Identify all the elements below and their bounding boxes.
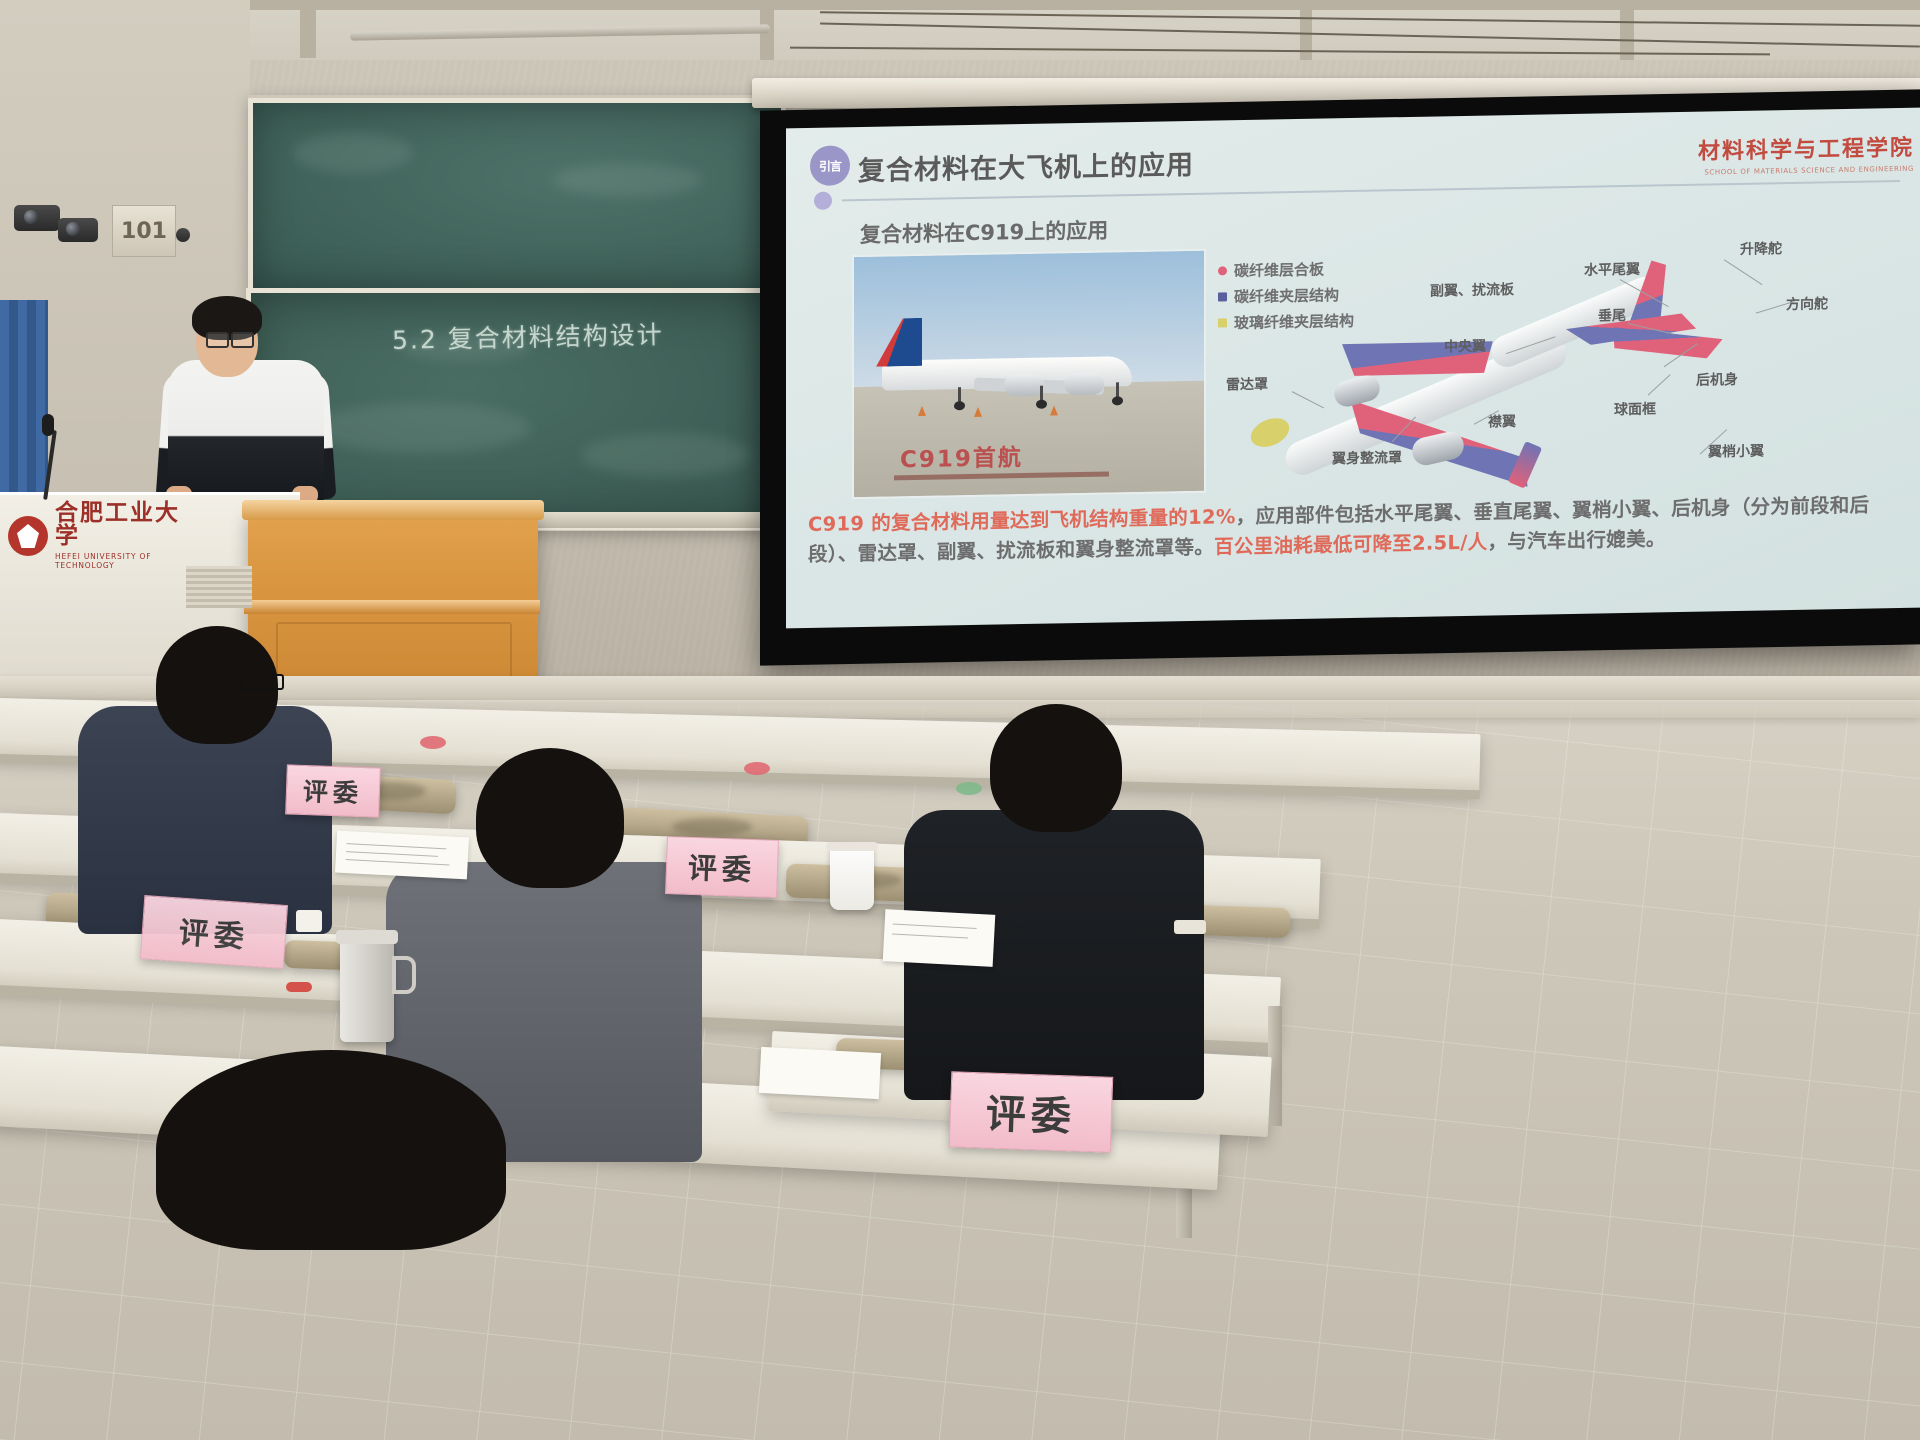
diagram-label-fairing: 翼身整流罩	[1332, 447, 1402, 468]
engine-nacelle	[1332, 372, 1383, 409]
name-tent: 评委	[285, 764, 381, 817]
desk-item	[1174, 920, 1206, 934]
marker-pen	[286, 982, 312, 992]
cup-lid	[826, 842, 878, 851]
sensor-lens-icon	[24, 210, 38, 224]
paper-sheet	[759, 1047, 881, 1099]
room-number-text: 101	[121, 219, 167, 244]
platform-step	[0, 676, 1920, 702]
name-tent: 评委	[140, 895, 288, 969]
diagram-label-v-tail: 垂尾	[1598, 305, 1626, 326]
radome-part	[1247, 413, 1294, 453]
diagram-label-winglet: 翼梢小翼	[1708, 440, 1764, 461]
paper-sheet	[883, 909, 996, 967]
paragraph-highlight-1: C919 的复合材料用量达到飞机结构重量的12%	[808, 505, 1236, 536]
university-name-cn: 合肥工业大学	[55, 502, 193, 548]
presenter-glasses-right	[231, 332, 254, 348]
university-name-en: HEFEI UNIVERSITY OF TECHNOLOGY	[55, 552, 193, 570]
thermos-lid	[336, 930, 398, 944]
audience-glasses	[240, 674, 284, 690]
ceiling-beam	[1300, 0, 1312, 62]
presentation-slide: 引言 复合材料在大飞机上的应用 材料科学与工程学院 SCHOOL OF MATE…	[786, 108, 1920, 629]
desk-marker-dot	[420, 736, 446, 749]
thermos-handle	[392, 956, 416, 994]
name-tent-label: 评委	[178, 908, 251, 957]
slide-brand: 材料科学与工程学院 SCHOOL OF MATERIALS SCIENCE AN…	[1698, 130, 1914, 177]
c919-photo: C919首航	[852, 249, 1206, 499]
podium-lip	[244, 600, 540, 614]
thermos-bottle	[340, 938, 394, 1042]
slide-bullet-dot	[814, 192, 832, 210]
paragraph-highlight-2: 百公里油耗最低可降至2.5L/人	[1214, 530, 1487, 558]
name-tent-label: 评委	[985, 1081, 1077, 1142]
paper-sheet	[335, 831, 469, 880]
diagram-label-bulkhead: 球面框	[1614, 398, 1656, 419]
name-tent-label: 评委	[687, 845, 756, 889]
slide-body-paragraph: C919 的复合材料用量达到飞机结构重量的12%，应用部件包括水平尾翼、垂直尾翼…	[808, 490, 1910, 569]
diagram-label-elevator: 升降舵	[1740, 238, 1782, 259]
eraser	[296, 910, 322, 932]
diagram-label-h-stab: 水平尾翼	[1584, 259, 1640, 280]
name-tent: 评委	[949, 1071, 1114, 1153]
university-logo: 合肥工业大学 HEFEI UNIVERSITY OF TECHNOLOGY	[8, 505, 193, 567]
desk-marker-dot	[744, 762, 770, 775]
camera-lens-icon	[66, 222, 80, 236]
audience-member-head	[990, 704, 1122, 832]
ceiling-mic	[176, 228, 190, 242]
paper-cup	[830, 846, 874, 910]
ceiling-beam	[300, 0, 316, 58]
diagram-label-radome: 雷达罩	[1226, 374, 1268, 395]
slide-subtitle: 复合材料在C919上的应用	[860, 214, 1108, 249]
microphone-head	[42, 414, 54, 436]
presenter-body	[168, 360, 324, 505]
podium-vent	[186, 566, 252, 608]
slide-section-badge: 引言	[810, 145, 850, 186]
audience-member-head	[156, 1050, 506, 1250]
blackboard-upper-panel	[248, 98, 786, 293]
paragraph-text-2: ，与汽车出行媲美。	[1487, 527, 1665, 553]
diagram-label-aileron: 副翼、扰流板	[1430, 279, 1514, 301]
brand-name-cn: 材料科学与工程学院	[1698, 130, 1914, 166]
desk-marker-dot	[956, 782, 982, 795]
diagram-label-rudder: 方向舵	[1786, 293, 1828, 314]
room-number-plate: 101	[112, 205, 176, 257]
blackboard-handwriting: 5.2 复合材料结构设计	[392, 315, 664, 357]
name-tent: 评委	[665, 836, 779, 898]
diagram-label-rear-fuselage: 后机身	[1696, 369, 1738, 390]
classroom-scene: 101 5.2 复合材料结构设计 引言 复合材料在大飞机上的应用 材料科学与工程…	[0, 0, 1920, 1440]
presenter-glasses-left	[206, 332, 229, 348]
audience-member-head	[476, 748, 624, 888]
slide-title: 复合材料在大飞机上的应用	[858, 143, 1194, 188]
photo-caption: C919首航	[900, 438, 1023, 474]
diagram-label-center-wing: 中央翼	[1444, 336, 1486, 357]
university-crest-icon	[8, 516, 48, 556]
podium-top-surface	[242, 500, 544, 520]
name-tent-label: 评委	[302, 772, 363, 810]
aircraft-exploded-diagram: 升降舵 水平尾翼 方向舵 副翼、扰流板 垂尾 中央翼 后机身 雷达罩 球面框 襟…	[1216, 230, 1916, 498]
brand-name-en: SCHOOL OF MATERIALS SCIENCE AND ENGINEER…	[1698, 165, 1914, 177]
